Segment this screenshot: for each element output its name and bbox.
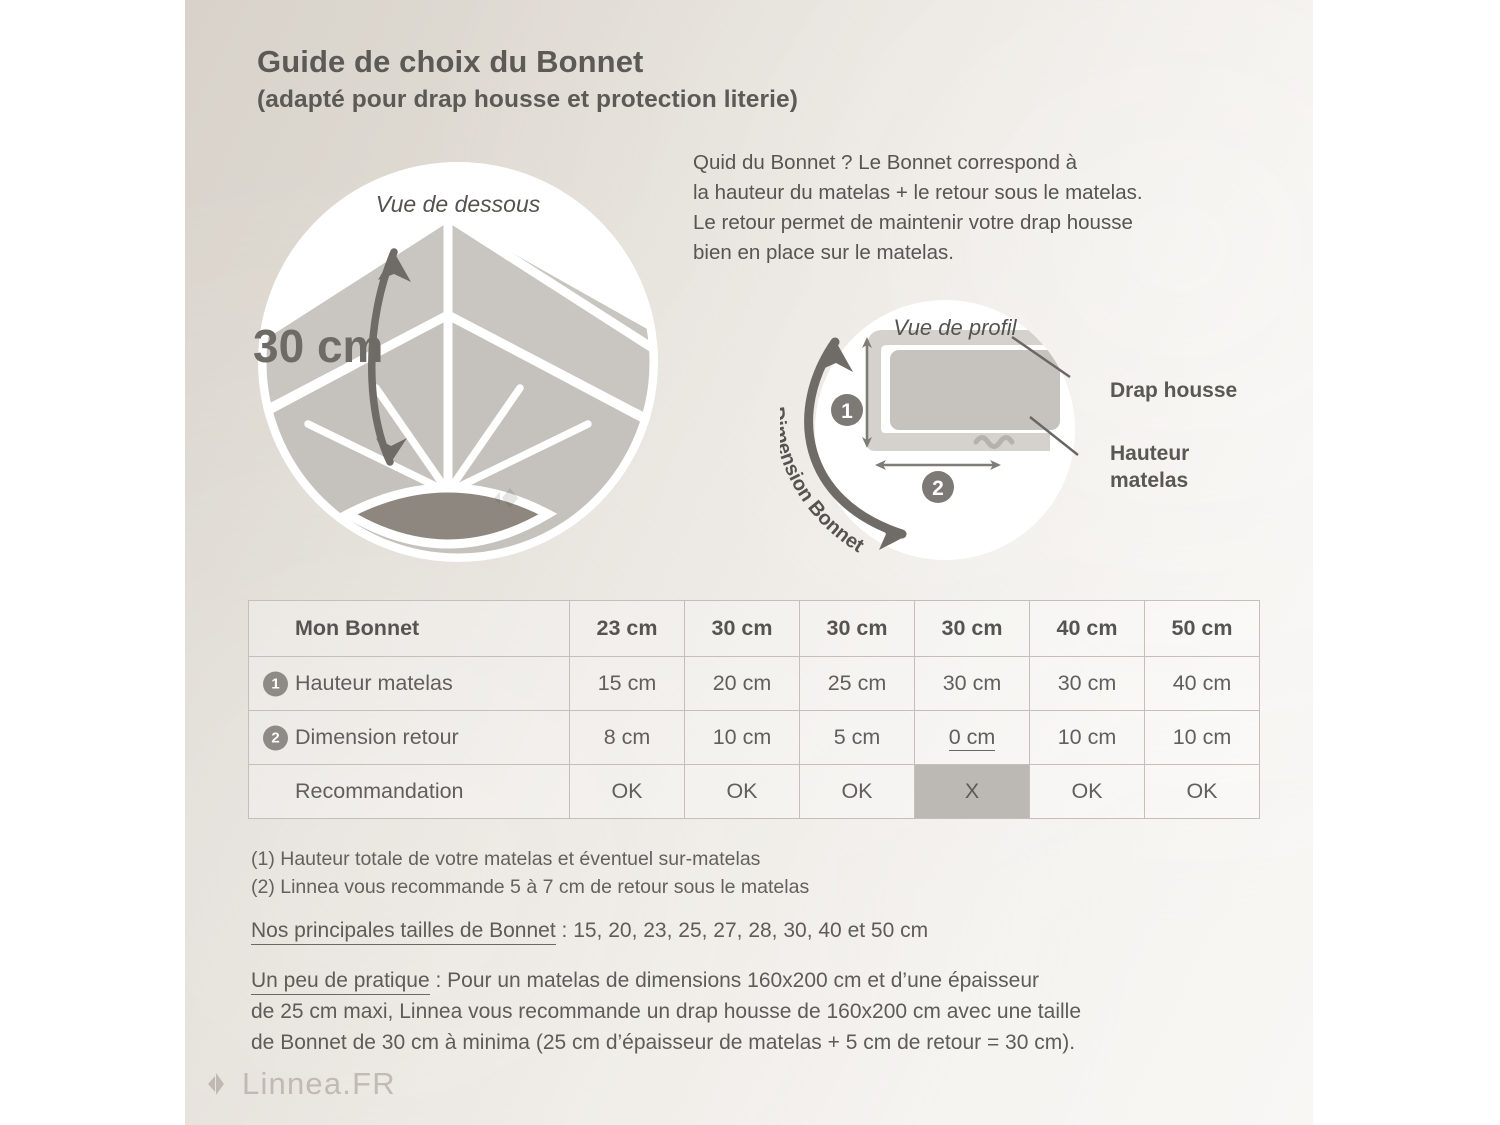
table-cell: 30 cm [1030,657,1145,711]
bonnet-size-table: Mon Bonnet 23 cm 30 cm 30 cm 30 cm 40 cm… [248,600,1260,819]
table-cell: 50 cm [1145,601,1260,657]
table-cell: 40 cm [1030,601,1145,657]
table-cell: 30 cm [800,601,915,657]
intro-line-4: bien en place sur le matelas. [693,238,1273,268]
table-cell: OK [1145,765,1260,819]
table-cell: 15 cm [570,657,685,711]
row-label: Hauteur matelas [295,671,453,695]
table-cell-not-recommended: X [915,765,1030,819]
row-label-cell: 2 Dimension retour [249,711,570,765]
page-root: Guide de choix du Bonnet (adapté pour dr… [0,0,1500,1125]
row-label-cell: Mon Bonnet [249,601,570,657]
table-cell: 8 cm [570,711,685,765]
row-label-cell: Recommandation [249,765,570,819]
intro-line-2: la hauteur du matelas + le retour sous l… [693,178,1273,208]
linnea-logo: Linnea.FR [203,1066,396,1102]
table-cell: 25 cm [800,657,915,711]
table-row: 2 Dimension retour 8 cm 10 cm 5 cm 0 cm … [249,711,1260,765]
table-cell: 23 cm [570,601,685,657]
measure-label: 30 cm [253,320,383,372]
available-sizes-body: : 15, 20, 23, 25, 27, 28, 30, 40 et 50 c… [556,919,928,942]
table-cell: 10 cm [1030,711,1145,765]
bottom-view-caption: Vue de dessous [376,191,541,217]
practical-heading: Un peu de pratique [251,969,430,995]
bonnet-table: Mon Bonnet 23 cm 30 cm 30 cm 30 cm 40 cm… [248,600,1260,819]
table-row: Mon Bonnet 23 cm 30 cm 30 cm 30 cm 40 cm… [249,601,1260,657]
profile-marker-1: 1 [831,394,863,426]
svg-text:2: 2 [932,477,944,500]
callout-drap-housse: Drap housse [1110,377,1237,404]
table-cell-value: 0 cm [949,725,996,751]
table-cell: 40 cm [1145,657,1260,711]
diagram-bottom-view: Vue de dessous 30 cm [248,162,668,562]
footnote-2: (2) Linnea vous recommande 5 à 7 cm de r… [251,873,1271,901]
table-cell: 30 cm [685,601,800,657]
row-label-cell: 1 Hauteur matelas [249,657,570,711]
practical-line-1: Un peu de pratique : Pour un matelas de … [251,965,1261,996]
diagram-profile-view: 1 2 Vue de profil [780,285,1110,585]
practical-line-1-body: : Pour un matelas de dimensions 160x200 … [430,969,1039,992]
diamond-leaf-icon [203,1071,229,1097]
title-line-2: (adapté pour drap housse et protection l… [257,85,1157,115]
table-cell: OK [800,765,915,819]
svg-text:1: 1 [841,400,853,423]
badge-2: 2 [263,725,288,750]
practical-line-2: de 25 cm maxi, Linnea vous recommande un… [251,996,1261,1027]
badge-1: 1 [263,671,288,696]
footnote-1: (1) Hauteur totale de votre matelas et é… [251,845,1271,873]
table-cell: 20 cm [685,657,800,711]
profile-view-illustration: 1 2 Vue de profil [780,285,1110,585]
infographic-panel: Guide de choix du Bonnet (adapté pour dr… [185,0,1313,1125]
table-cell: 30 cm [915,657,1030,711]
profile-marker-2: 2 [922,471,954,503]
table-cell-emphasis: 0 cm [915,711,1030,765]
footnotes: (1) Hauteur totale de votre matelas et é… [251,845,1271,901]
table-cell: 5 cm [800,711,915,765]
callout-hauteur-line-2: matelas [1110,467,1189,494]
row-label: Dimension retour [295,725,459,749]
table-cell: OK [685,765,800,819]
row-label: Recommandation [295,779,464,803]
intro-line-1: Quid du Bonnet ? Le Bonnet correspond à [693,148,1273,178]
table-row: 1 Hauteur matelas 15 cm 20 cm 25 cm 30 c… [249,657,1260,711]
logo-text: Linnea.FR [242,1066,396,1102]
practical-line-3: de Bonnet de 30 cm à minima (25 cm d’épa… [251,1027,1261,1058]
callout-hauteur-matelas: Hauteur matelas [1110,440,1189,494]
practical-example: Un peu de pratique : Pour un matelas de … [251,965,1261,1058]
callout-hauteur-line-1: Hauteur [1110,440,1189,467]
table-row: Recommandation OK OK OK X OK OK [249,765,1260,819]
table-cell: OK [1030,765,1145,819]
mattress-block [890,350,1060,430]
page-title: Guide de choix du Bonnet (adapté pour dr… [257,44,1157,114]
intro-paragraph: Quid du Bonnet ? Le Bonnet correspond à … [693,148,1273,268]
bottom-view-illustration: Vue de dessous 30 cm [248,162,668,562]
table-cell: OK [570,765,685,819]
table-cell: 10 cm [685,711,800,765]
profile-view-caption: Vue de profil [893,315,1017,340]
row-label: Mon Bonnet [295,616,419,640]
available-sizes-heading: Nos principales tailles de Bonnet [251,919,556,945]
title-line-1: Guide de choix du Bonnet [257,44,1157,81]
table-cell: 30 cm [915,601,1030,657]
available-sizes-line: Nos principales tailles de Bonnet : 15, … [251,916,1271,946]
intro-line-3: Le retour permet de maintenir votre drap… [693,208,1273,238]
table-cell: 10 cm [1145,711,1260,765]
